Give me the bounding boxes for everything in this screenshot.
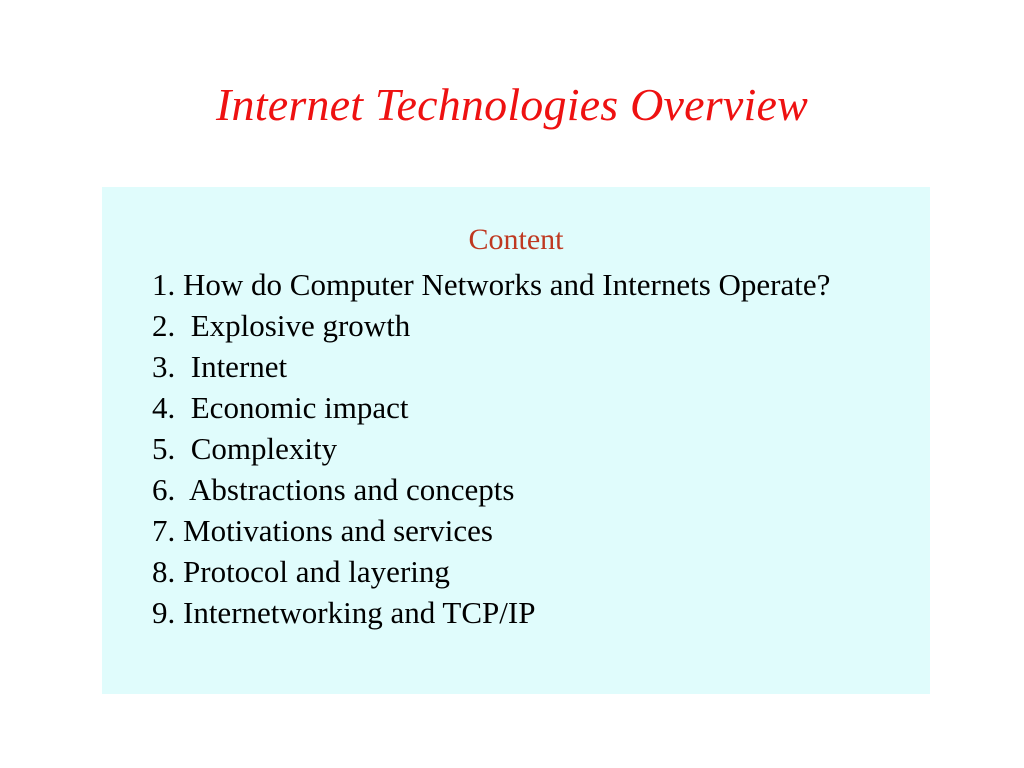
list-item: 4. Economic impact xyxy=(152,387,922,428)
page-title: Internet Technologies Overview xyxy=(0,79,1024,131)
content-heading: Content xyxy=(102,223,930,257)
presentation-slide: Internet Technologies Overview Content 1… xyxy=(0,0,1024,768)
list-item: 3. Internet xyxy=(152,346,922,387)
list-item: 2. Explosive growth xyxy=(152,305,922,346)
list-item: 9. Internetworking and TCP/IP xyxy=(152,592,922,633)
list-item: 6. Abstractions and concepts xyxy=(152,469,922,510)
list-item: 7. Motivations and services xyxy=(152,510,922,551)
content-list: 1. How do Computer Networks and Internet… xyxy=(152,264,922,633)
list-item: 8. Protocol and layering xyxy=(152,551,922,592)
content-panel: Content 1. How do Computer Networks and … xyxy=(102,187,930,694)
list-item: 1. How do Computer Networks and Internet… xyxy=(152,264,922,305)
list-item: 5. Complexity xyxy=(152,428,922,469)
